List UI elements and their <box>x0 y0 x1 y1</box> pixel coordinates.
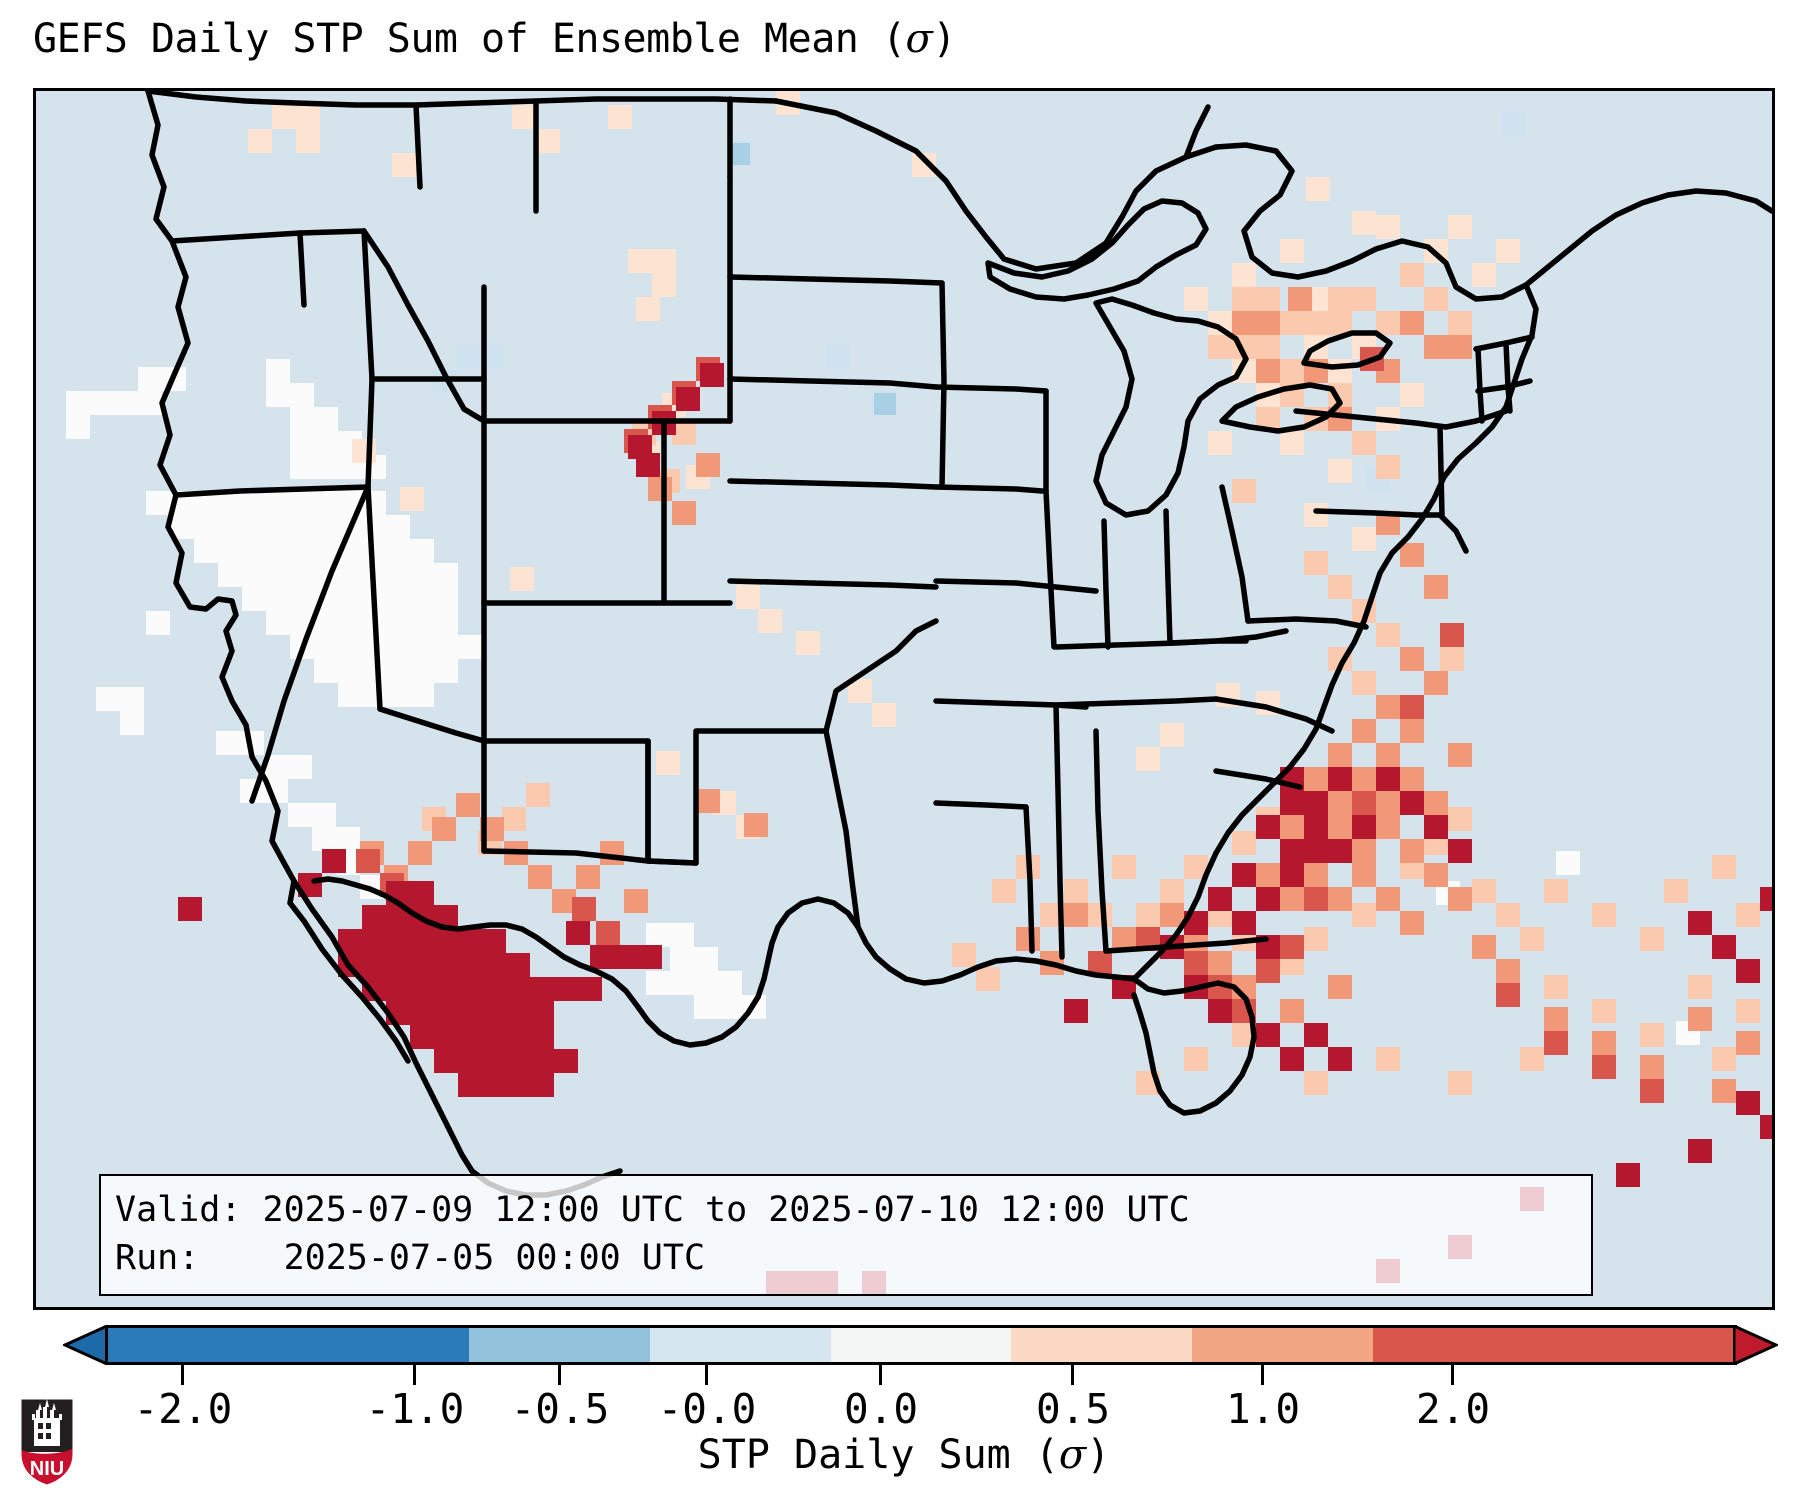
sigma-symbol: σ <box>906 16 933 62</box>
page-title: GEFS Daily STP Sum of Ensemble Mean (σ) <box>33 16 1775 62</box>
colorbar-segment-n1-n05 <box>469 1328 650 1362</box>
colorbar-axis-label: STP Daily Sum (σ) <box>33 1432 1775 1478</box>
colorbar-label-4: 0.0 <box>844 1385 918 1433</box>
colorbar-segment-05-10 <box>1192 1328 1373 1362</box>
colorbar-tick-2 <box>558 1365 561 1385</box>
page-title-suffix: ) <box>932 16 956 62</box>
colorbar-tick-5 <box>1071 1365 1074 1385</box>
colorbar-label-3: -0.0 <box>658 1385 757 1433</box>
colorbar-axis-label-text: STP Daily Sum ( <box>698 1432 1059 1478</box>
run-time-line: Run: 2025-07-05 00:00 UTC <box>115 1234 1577 1282</box>
forecast-info-box: Valid: 2025-07-09 12:00 UTC to 2025-07-1… <box>99 1174 1593 1296</box>
colorbar[interactable]: -2.0 -1.0 -0.5 -0.0 0.0 0.5 1.0 2.0 <box>33 1325 1775 1373</box>
colorbar-label-5: 0.5 <box>1036 1385 1110 1433</box>
colorbar-label-1: -1.0 <box>366 1385 465 1433</box>
colorbar-tick-6 <box>1261 1365 1264 1385</box>
colorbar-tick-3 <box>705 1365 708 1385</box>
colorbar-max-extend-arrow <box>1733 1325 1775 1365</box>
colorbar-segment-00-05 <box>1011 1328 1192 1362</box>
colorbar-label-7: 2.0 <box>1416 1385 1490 1433</box>
colorbar-segment-n00-00 <box>831 1328 1012 1362</box>
map-plot-area[interactable]: Valid: 2025-07-09 12:00 UTC to 2025-07-1… <box>33 88 1775 1310</box>
colorbar-segment-n2-n1 <box>108 1328 469 1362</box>
page-title-text: GEFS Daily STP Sum of Ensemble Mean ( <box>33 16 906 62</box>
niu-logo: NIU <box>16 1396 78 1488</box>
colorbar-tick-4 <box>879 1365 882 1385</box>
colorbar-tick-0 <box>181 1365 184 1385</box>
colorbar-gradient[interactable] <box>105 1325 1737 1365</box>
colorbar-ticks <box>33 1365 1775 1385</box>
colorbar-min-extend-arrow <box>63 1325 105 1365</box>
colorbar-segment-10-20 <box>1373 1328 1734 1362</box>
map-background <box>36 91 1772 1307</box>
valid-time-line: Valid: 2025-07-09 12:00 UTC to 2025-07-1… <box>115 1186 1577 1234</box>
colorbar-label-6: 1.0 <box>1226 1385 1300 1433</box>
colorbar-segment-n05-n00 <box>650 1328 831 1362</box>
colorbar-tick-1 <box>413 1365 416 1385</box>
map-canvas <box>36 91 1772 1307</box>
colorbar-label-2: -0.5 <box>511 1385 610 1433</box>
colorbar-tick-labels: -2.0 -1.0 -0.5 -0.0 0.0 0.5 1.0 2.0 <box>33 1385 1775 1437</box>
colorbar-axis-label-suffix: ) <box>1086 1432 1110 1478</box>
colorbar-tick-7 <box>1451 1365 1454 1385</box>
colorbar-label-0: -2.0 <box>134 1385 233 1433</box>
niu-logo-text: NIU <box>30 1458 64 1480</box>
sigma-symbol-colorbar: σ <box>1059 1432 1086 1478</box>
